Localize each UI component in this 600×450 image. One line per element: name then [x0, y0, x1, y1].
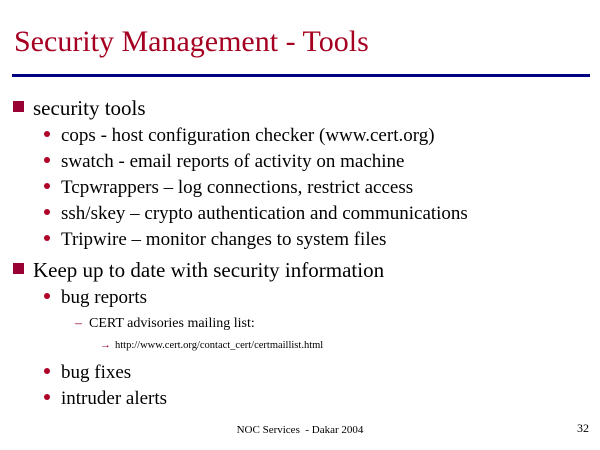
list-item-label: swatch - email reports of activity on ma… — [61, 149, 404, 175]
list-item: swatch - email reports of activity on ma… — [0, 149, 600, 175]
list-item: Keep up to date with security informatio… — [0, 256, 600, 285]
list-item-label: ssh/skey – crypto authentication and com… — [61, 201, 468, 227]
list-item-label: security tools — [33, 94, 146, 123]
list-item: cops - host configuration checker (www.c… — [0, 123, 600, 149]
slide: Security Management - Tools security too… — [0, 0, 600, 450]
round-bullet-icon — [44, 131, 50, 137]
round-bullet-icon — [44, 293, 50, 299]
square-bullet-icon — [13, 263, 24, 274]
list-item-label: bug fixes — [61, 360, 131, 386]
list-item-label: Tripwire – monitor changes to system fil… — [61, 227, 386, 253]
list-item: bug reports — [0, 285, 600, 311]
list-item: – CERT advisories mailing list: — [0, 314, 600, 334]
list-item: bug fixes — [0, 360, 600, 386]
list-item: ssh/skey – crypto authentication and com… — [0, 201, 600, 227]
arrow-bullet-icon: → — [100, 337, 111, 353]
list-item: Tcpwrappers – log connections, restrict … — [0, 175, 600, 201]
round-bullet-icon — [44, 235, 50, 241]
round-bullet-icon — [44, 157, 50, 163]
footer-text: NOC Services - Dakar 2004 — [0, 423, 600, 437]
list-item-label: intruder alerts — [61, 386, 167, 412]
round-bullet-icon — [44, 368, 50, 374]
page-number: 32 — [577, 421, 589, 436]
list-item: intruder alerts — [0, 386, 600, 412]
list-item-label: Tcpwrappers – log connections, restrict … — [61, 175, 413, 201]
title-divider — [12, 74, 590, 77]
square-bullet-icon — [13, 101, 24, 112]
slide-body-list: security tools cops - host configuration… — [0, 94, 600, 412]
round-bullet-icon — [44, 183, 50, 189]
round-bullet-icon — [44, 394, 50, 400]
list-item-label: cops - host configuration checker (www.c… — [61, 123, 435, 149]
list-item: security tools — [0, 94, 600, 123]
list-item-label: bug reports — [61, 285, 147, 311]
page-title: Security Management - Tools — [14, 23, 369, 61]
url-link-label[interactable]: http://www.cert.org/contact_cert/certmai… — [115, 338, 323, 354]
round-bullet-icon — [44, 209, 50, 215]
list-item: Tripwire – monitor changes to system fil… — [0, 227, 600, 253]
list-item: → http://www.cert.org/contact_cert/certm… — [0, 337, 600, 354]
list-item-label: CERT advisories mailing list: — [89, 314, 255, 334]
dash-bullet-icon: – — [75, 314, 82, 334]
list-item-label: Keep up to date with security informatio… — [33, 256, 384, 285]
